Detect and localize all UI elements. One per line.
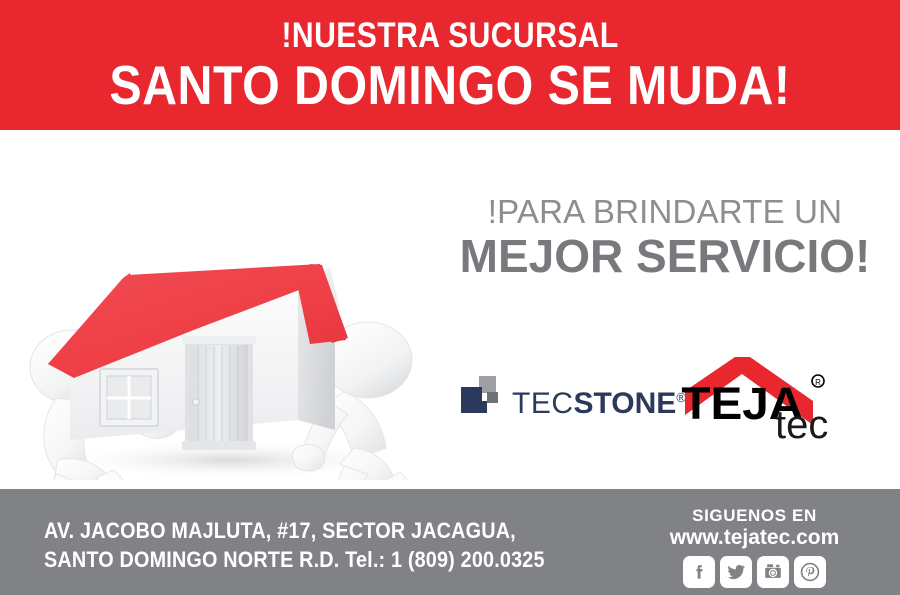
facebook-icon[interactable]: [683, 556, 715, 588]
tejatec-text-tec: tec: [775, 403, 828, 443]
tecstone-mark-icon: [460, 375, 506, 419]
social-follow-label: SIGUENOS EN: [647, 507, 862, 526]
logo-tejatec: R TEJA tec: [675, 355, 855, 443]
promotional-banner: !NUESTRA SUCURSAL SANTO DOMINGO SE MUDA!: [0, 0, 900, 595]
slogan-line-1: !PARA BRINDARTE UN: [440, 195, 890, 228]
tecstone-text-tec: TEC: [512, 387, 574, 420]
svg-text:R: R: [815, 378, 821, 387]
house-door: [182, 336, 256, 450]
pinterest-glyph: [799, 561, 821, 583]
instagram-glyph: [762, 561, 784, 583]
logo-row: TECSTONE® R TEJA tec: [455, 355, 875, 445]
social-icon-row: [647, 556, 862, 588]
house-window: [100, 369, 158, 426]
twitter-icon[interactable]: [720, 556, 752, 588]
header-banner: !NUESTRA SUCURSAL SANTO DOMINGO SE MUDA!: [0, 0, 900, 130]
tejatec-logo-svg: R TEJA tec: [675, 355, 855, 443]
slogan-line-2: MEJOR SERVICIO!: [440, 232, 890, 280]
social-block: SIGUENOS EN www.tejatec.com: [647, 507, 862, 588]
house-graphic: [48, 264, 348, 450]
headline-line-1: !NUESTRA SUCURSAL: [281, 18, 618, 53]
headline-line-2: SANTO DOMINGO SE MUDA!: [109, 58, 790, 113]
address-line-2: SANTO DOMINGO NORTE R.D. Tel.: 1 (809) 2…: [44, 545, 545, 574]
movers-house-illustration: [10, 130, 450, 480]
tecstone-text-stone: STONE: [574, 387, 677, 420]
pinterest-icon[interactable]: [794, 556, 826, 588]
website-url[interactable]: www.tejatec.com: [647, 526, 862, 550]
twitter-glyph: [726, 561, 747, 582]
house-movers-svg: [10, 130, 450, 480]
address-block: AV. JACOBO MAJLUTA, #17, SECTOR JACAGUA,…: [44, 516, 545, 574]
instagram-icon[interactable]: [757, 556, 789, 588]
tecstone-wordmark: TECSTONE®: [512, 389, 686, 419]
footer-banner: AV. JACOBO MAJLUTA, #17, SECTOR JACAGUA,…: [0, 489, 900, 595]
address-line-1: AV. JACOBO MAJLUTA, #17, SECTOR JACAGUA,: [44, 516, 545, 545]
main-content: !PARA BRINDARTE UN MEJOR SERVICIO! TECST…: [0, 130, 900, 489]
facebook-glyph: [689, 562, 709, 582]
slogan-block: !PARA BRINDARTE UN MEJOR SERVICIO!: [440, 195, 890, 280]
logo-tecstone: TECSTONE®: [460, 375, 686, 421]
